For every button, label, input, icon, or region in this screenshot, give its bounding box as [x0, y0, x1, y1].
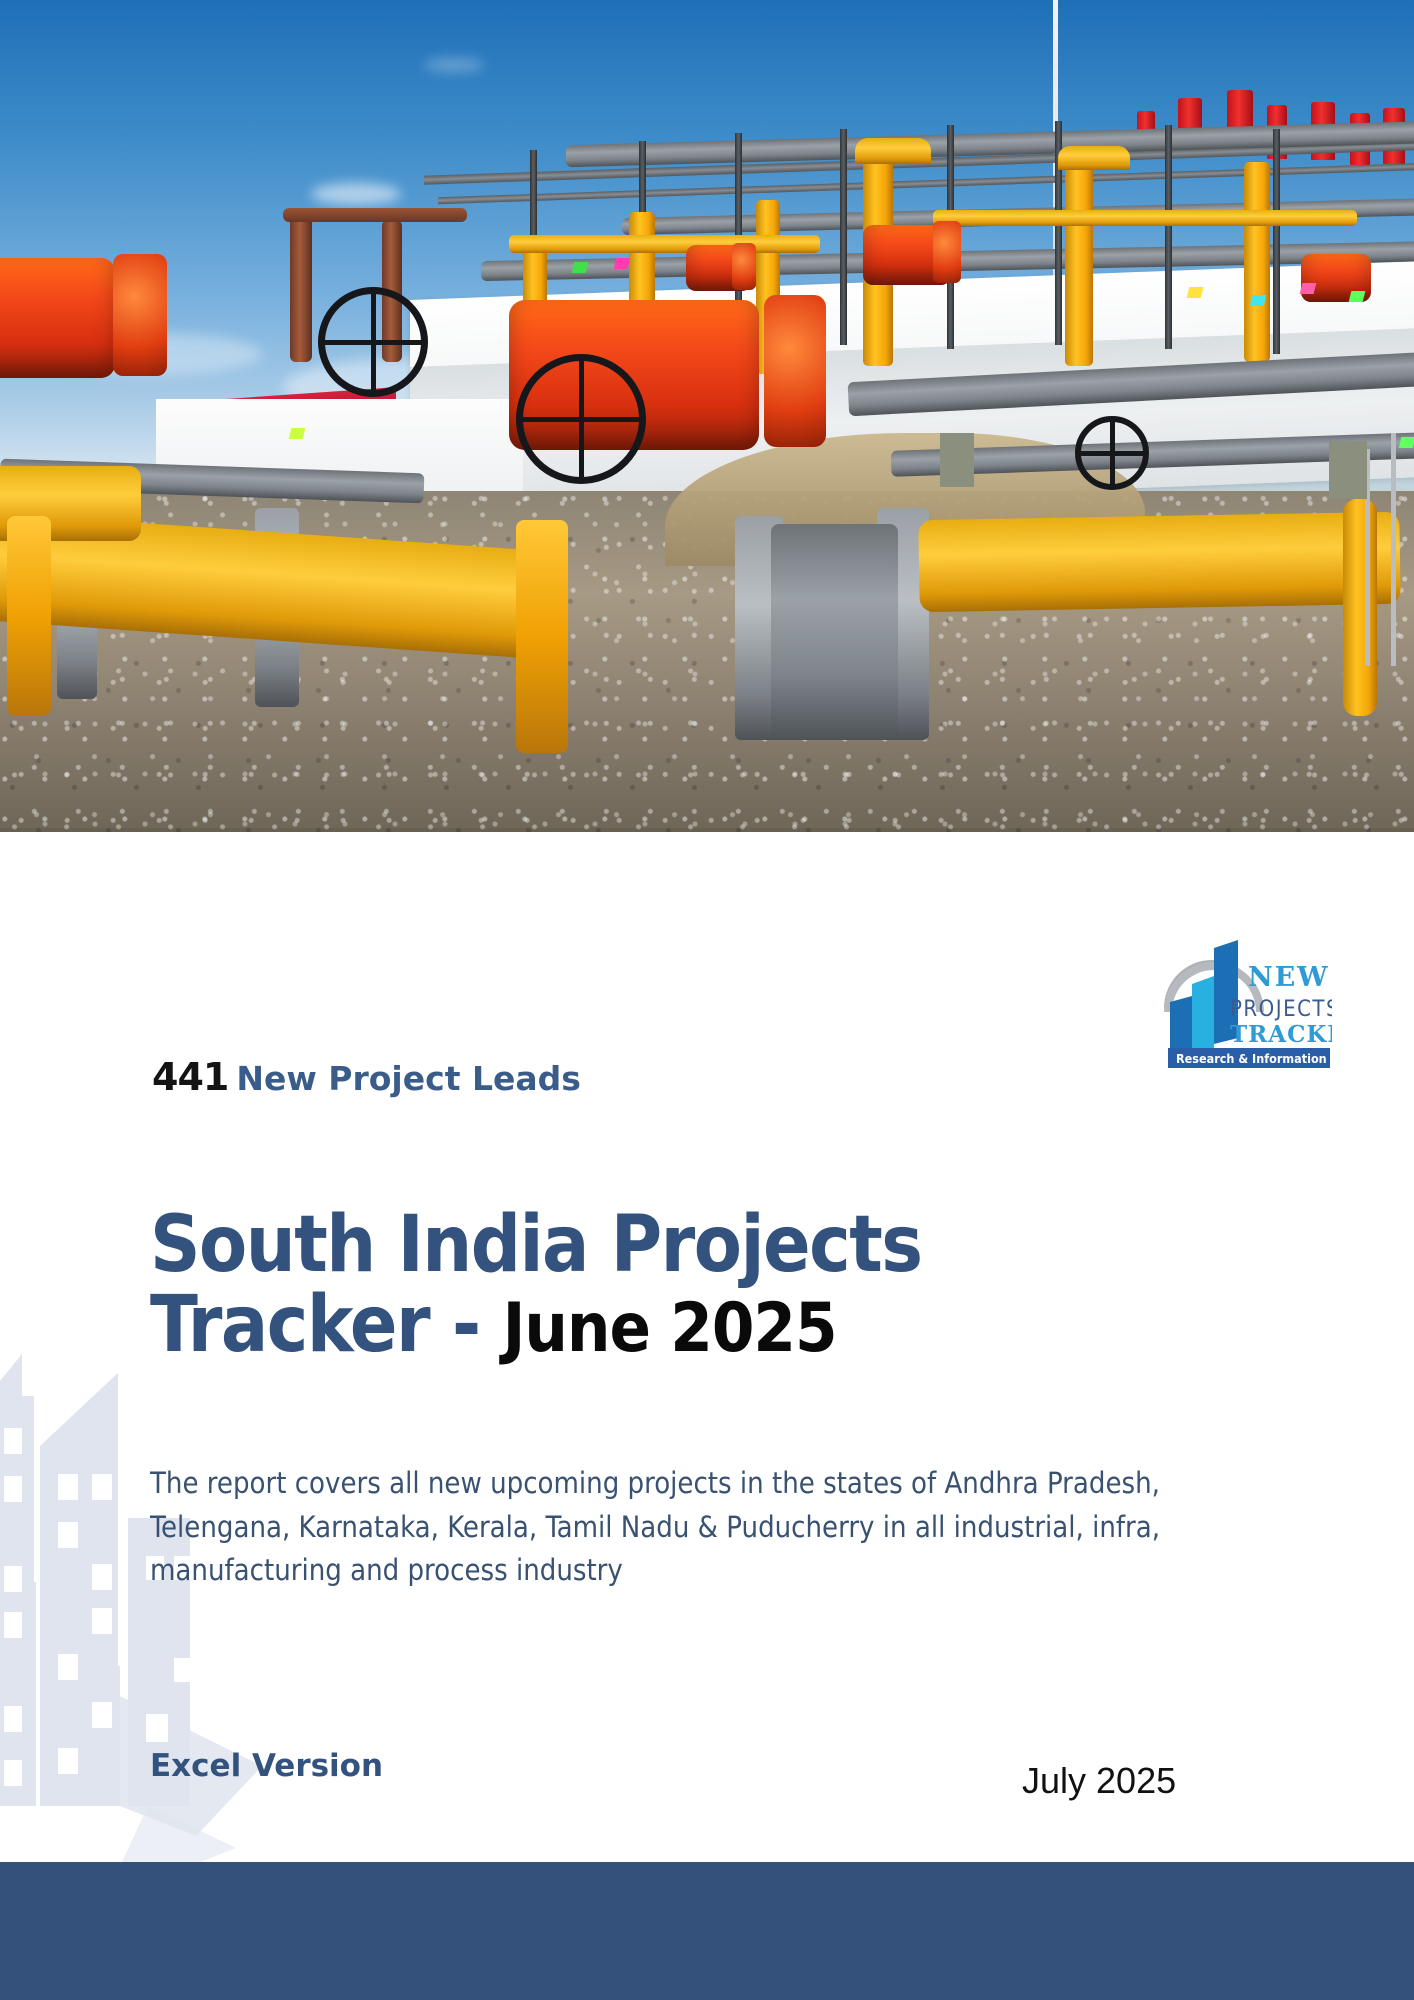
yellow-pipe-elbow — [1058, 146, 1130, 170]
actuator-cap — [732, 243, 756, 290]
logo-text-new: NEW — [1248, 962, 1330, 993]
yellow-header-pipe — [933, 210, 1357, 226]
building-skyline-watermark — [0, 1336, 300, 1866]
logo-tagline-text: Research & Information Services — [1176, 1051, 1332, 1066]
marker-flag — [614, 258, 631, 269]
brown-pipe — [290, 212, 312, 362]
marker-flag — [1398, 437, 1414, 448]
report-description: The report covers all new upcoming proje… — [150, 1462, 1260, 1593]
yellow-flange — [7, 516, 51, 716]
leads-label: New Project Leads — [236, 1059, 581, 1098]
new-project-leads-stat: 441 New Project Leads — [152, 1055, 581, 1099]
support-post — [840, 129, 847, 345]
valve-body — [771, 524, 898, 740]
yellow-pipe-elbow — [855, 138, 931, 164]
hero-photo-industrial-pipeline — [0, 0, 1414, 832]
report-cover-page: NEW PROJECTS TRACKER Research & Informat… — [0, 0, 1414, 2000]
actuator-cap — [764, 295, 826, 447]
title-line-1: South India Projects — [150, 1205, 1150, 1285]
instrument-conduit — [1391, 433, 1396, 666]
yellow-pipe-bend — [1343, 499, 1377, 715]
edition-label: Excel Version — [150, 1748, 383, 1784]
actuator-cap — [113, 254, 167, 376]
valve-handwheel — [516, 354, 646, 484]
photo-bottom-edge — [0, 828, 1414, 832]
title-line-2: Tracker - June 2025 — [150, 1285, 1150, 1365]
marker-flag — [1300, 283, 1317, 294]
yellow-pipeline-foreground — [918, 512, 1400, 612]
marker-flag — [571, 262, 588, 273]
logo-text-projects: PROJECTS — [1230, 997, 1332, 1022]
brown-pipe-header — [283, 208, 467, 222]
yellow-riser-pipe — [1065, 150, 1093, 366]
page-title: South India Projects Tracker - June 2025 — [150, 1205, 1150, 1366]
valve-handwheel — [1075, 416, 1149, 490]
footer-bar — [0, 1862, 1414, 2000]
support-post — [1273, 129, 1280, 354]
new-projects-tracker-logo: NEW PROJECTS TRACKER Research & Informat… — [1152, 912, 1332, 1072]
yellow-header-pipe — [509, 235, 820, 253]
yellow-riser-pipe — [1244, 162, 1270, 362]
valve-actuator-large — [0, 258, 115, 378]
instrument-box — [940, 433, 974, 487]
title-report-period: June 2025 — [503, 1289, 837, 1368]
marker-flag — [1186, 287, 1203, 298]
title-line-2-main: Tracker - — [150, 1280, 503, 1370]
actuator-cap — [933, 221, 961, 283]
marker-flag — [288, 428, 305, 439]
yellow-flange — [516, 520, 568, 753]
cloud — [311, 183, 401, 205]
valve-handwheel — [318, 287, 428, 397]
support-post — [1165, 125, 1172, 350]
publication-date: July 2025 — [1022, 1760, 1176, 1802]
instrument-box — [1329, 441, 1367, 499]
leads-count: 441 — [152, 1055, 228, 1099]
logo-text-tracker: TRACKER — [1230, 1021, 1332, 1048]
